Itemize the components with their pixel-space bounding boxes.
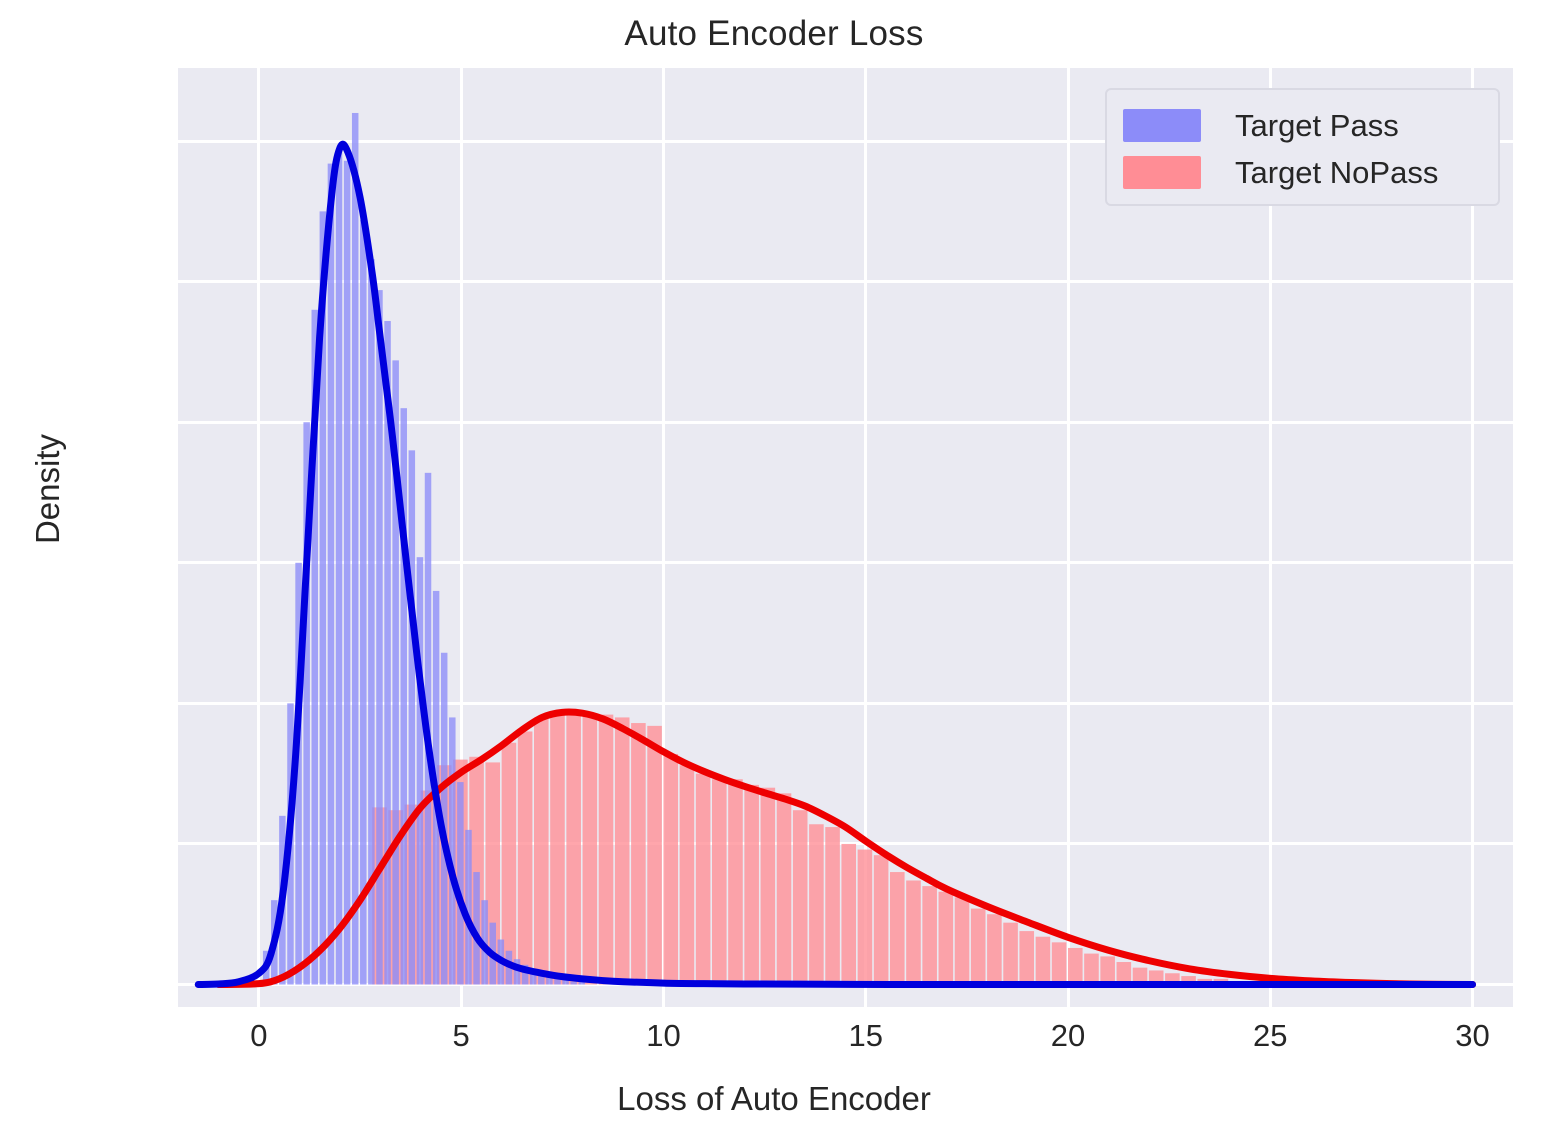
histogram-bar [1084,954,1099,985]
histogram-bar [874,855,889,984]
legend-swatch-target-pass [1123,109,1201,142]
histogram-bar [939,892,954,985]
histogram-bar [663,754,678,985]
x-tick-label: 20 [1008,1018,1128,1054]
chart-figure: Auto Encoder Loss 0.000.050.100.150.200.… [0,0,1548,1145]
x-axis-label: Loss of Auto Encoder [0,1080,1548,1118]
histogram-bar [1100,956,1115,984]
x-tick-label: 0 [199,1018,319,1054]
histogram-bar [599,715,614,985]
histogram-bar [712,779,727,984]
legend-label-target-nopass: Target NoPass [1235,155,1438,191]
x-tick-label: 15 [806,1018,926,1054]
histogram-bar [922,886,937,984]
histogram-bar [550,715,565,985]
histogram-bar [696,774,711,985]
histogram-bar [1068,948,1083,985]
histogram-bar [1052,942,1067,984]
histogram-bar [1019,931,1034,984]
histogram-bar [328,164,334,985]
histogram-bar [825,827,840,984]
histogram-bar [566,715,581,985]
histogram-bar [777,793,792,984]
y-axis-label: Density [29,359,67,619]
legend-swatch-target-nopass [1123,156,1201,189]
histogram-bar [906,880,921,984]
plot-area [178,68,1513,1007]
histogram-bar [761,788,776,985]
histogram-bar [793,810,808,984]
histogram-bar [409,450,415,984]
histogram-bar [858,850,873,985]
plot-canvas [178,68,1513,1007]
histogram-bar [583,715,598,985]
histogram-bar [534,717,549,984]
histogram-bar [344,161,350,985]
histogram-bar [518,731,533,984]
legend-label-target-pass: Target Pass [1235,108,1399,144]
chart-legend[interactable]: Target Pass Target NoPass [1105,88,1500,206]
histogram-bar [809,824,824,984]
histogram-bar [744,785,759,985]
histogram-bar [1003,923,1018,985]
histogram-bar [647,726,662,985]
histogram-bar [987,914,1002,984]
chart-title: Auto Encoder Loss [0,14,1548,54]
legend-item-target-pass[interactable]: Target Pass [1123,102,1482,149]
histogram-bar [376,290,382,984]
histogram-bar [728,779,743,984]
histogram-bar [615,717,630,984]
x-tick-label: 30 [1413,1018,1533,1054]
histogram-bar [1036,937,1051,985]
x-tick-label: 5 [401,1018,521,1054]
histogram-bar [631,723,646,984]
histogram-bar [890,872,905,984]
histogram-bar [680,765,695,984]
x-tick-label: 25 [1210,1018,1330,1054]
histogram-bar [336,152,342,984]
histogram-bar [360,220,366,985]
histogram-bars-target-nopass [372,715,1277,985]
histogram-bar [841,844,856,985]
histogram-bar [352,113,358,985]
x-tick-label: 10 [603,1018,723,1054]
histogram-bar [417,557,423,984]
histogram-bar [955,897,970,984]
histogram-bar [971,909,986,985]
legend-item-target-nopass[interactable]: Target NoPass [1123,149,1482,196]
histogram-bar [570,982,576,985]
